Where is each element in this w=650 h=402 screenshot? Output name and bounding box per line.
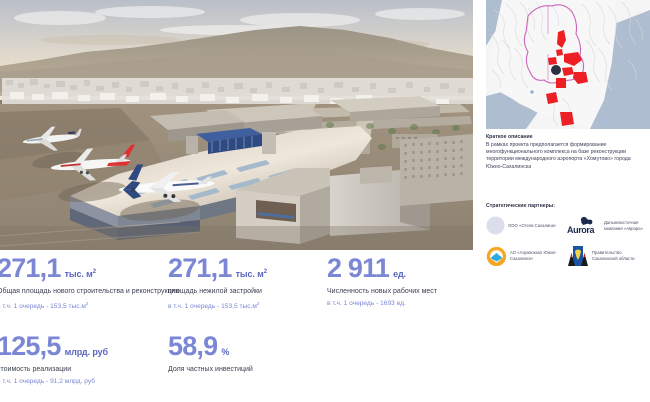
stat-label: площадь нежилой застройки — [168, 287, 267, 297]
city-marker-icon — [551, 65, 561, 75]
presentation-slide: Краткое описание В рамках проекта предпо… — [0, 0, 650, 402]
hero-illustration — [0, 0, 473, 250]
stat-unit: млрд. руб — [65, 347, 108, 357]
partner-label: Правительство Сахалинской области — [592, 250, 648, 261]
stat-private-investment-share: 58,9 % Доля частных инвестиций — [168, 333, 253, 375]
stat-label: Общая площадь нового строительства и рек… — [0, 287, 179, 297]
partner-hotels-sakhalin[interactable]: ООО «Отели Сахалина» — [486, 216, 567, 235]
partner-sakhalin-government[interactable]: Правительство Сахалинской области — [567, 245, 648, 267]
partners-row-1: ООО «Отели Сахалина» Aurora Дальневосточ… — [486, 216, 648, 235]
partners-title: Стратегические партнеры: — [486, 203, 648, 209]
aerovokzal-pin-logo-icon — [486, 247, 507, 266]
stat-sublabel: в т.ч. 1 очередь - 1693 ед. — [327, 299, 437, 308]
stat-number: 271,1 — [0, 255, 61, 282]
statistics-block: 271,1 тыс. м2 Общая площадь нового строи… — [0, 255, 475, 402]
stat-sublabel: в т.ч. 1 очередь - 91,2 млрд. руб — [0, 377, 108, 386]
stat-label: Численность новых рабочих мест — [327, 287, 437, 297]
description-block: Краткое описание В рамках проекта предпо… — [486, 134, 646, 171]
stat-label: стоимость реализации — [0, 365, 108, 375]
stat-unit: % — [221, 347, 229, 357]
stat-unit: тыс. м2 — [65, 269, 96, 279]
stat-number-row: 271,1 тыс. м2 — [168, 255, 267, 282]
stat-number: 2 911 — [327, 255, 389, 282]
map-illustration — [486, 0, 650, 129]
stat-number: 271,1 — [168, 255, 232, 282]
stat-unit: тыс. м2 — [236, 269, 267, 279]
stat-sublabel: в т.ч. 1 очередь - 153,5 тыс.м2 — [168, 299, 267, 311]
stat-project-cost: 125,5 млрд. руб стоимость реализации в т… — [0, 333, 108, 386]
stat-label: Доля частных инвестиций — [168, 365, 253, 375]
stat-new-jobs: 2 911 ед. Численность новых рабочих мест… — [327, 255, 437, 308]
stat-number-row: 271,1 тыс. м2 — [0, 255, 179, 282]
description-title: Краткое описание — [486, 134, 646, 140]
location-map[interactable] — [486, 0, 650, 129]
aurora-logo-icon: Aurora — [567, 216, 601, 235]
circle-placeholder-logo-icon — [486, 216, 505, 235]
partner-aurora[interactable]: Aurora Дальневосточная компания «Аврора» — [567, 216, 648, 235]
partner-label: АО «Аэровокзал Южно-Сахалинск» — [510, 250, 567, 261]
stat-number-row: 58,9 % — [168, 333, 253, 360]
partners-row-2: АО «Аэровокзал Южно-Сахалинск» Правитель… — [486, 245, 648, 267]
stat-non-residential-area: 271,1 тыс. м2 площадь нежилой застройки … — [168, 255, 267, 311]
partner-label: ООО «Отели Сахалина» — [508, 223, 556, 229]
svg-text:Aurora: Aurora — [567, 225, 595, 235]
hero-render-image — [0, 0, 473, 250]
stat-number: 125,5 — [0, 333, 61, 360]
description-body: В рамках проекта предполагается формиров… — [486, 142, 646, 172]
stat-sublabel: в т.ч. 1 очередь - 153,5 тыс.м2 — [0, 299, 179, 311]
strategic-partners-block: Стратегические партнеры: ООО «Отели Саха… — [486, 203, 648, 277]
stat-unit: ед. — [393, 269, 406, 279]
stat-number-row: 2 911 ед. — [327, 255, 437, 282]
stat-total-area: 271,1 тыс. м2 Общая площадь нового строи… — [0, 255, 179, 311]
partner-label: Дальневосточная компания «Аврора» — [604, 220, 648, 231]
partner-aerovokzal[interactable]: АО «Аэровокзал Южно-Сахалинск» — [486, 247, 567, 266]
stat-number: 58,9 — [168, 333, 217, 360]
stat-number-row: 125,5 млрд. руб — [0, 333, 108, 360]
sakhalin-oblast-coat-of-arms-icon — [567, 245, 589, 267]
